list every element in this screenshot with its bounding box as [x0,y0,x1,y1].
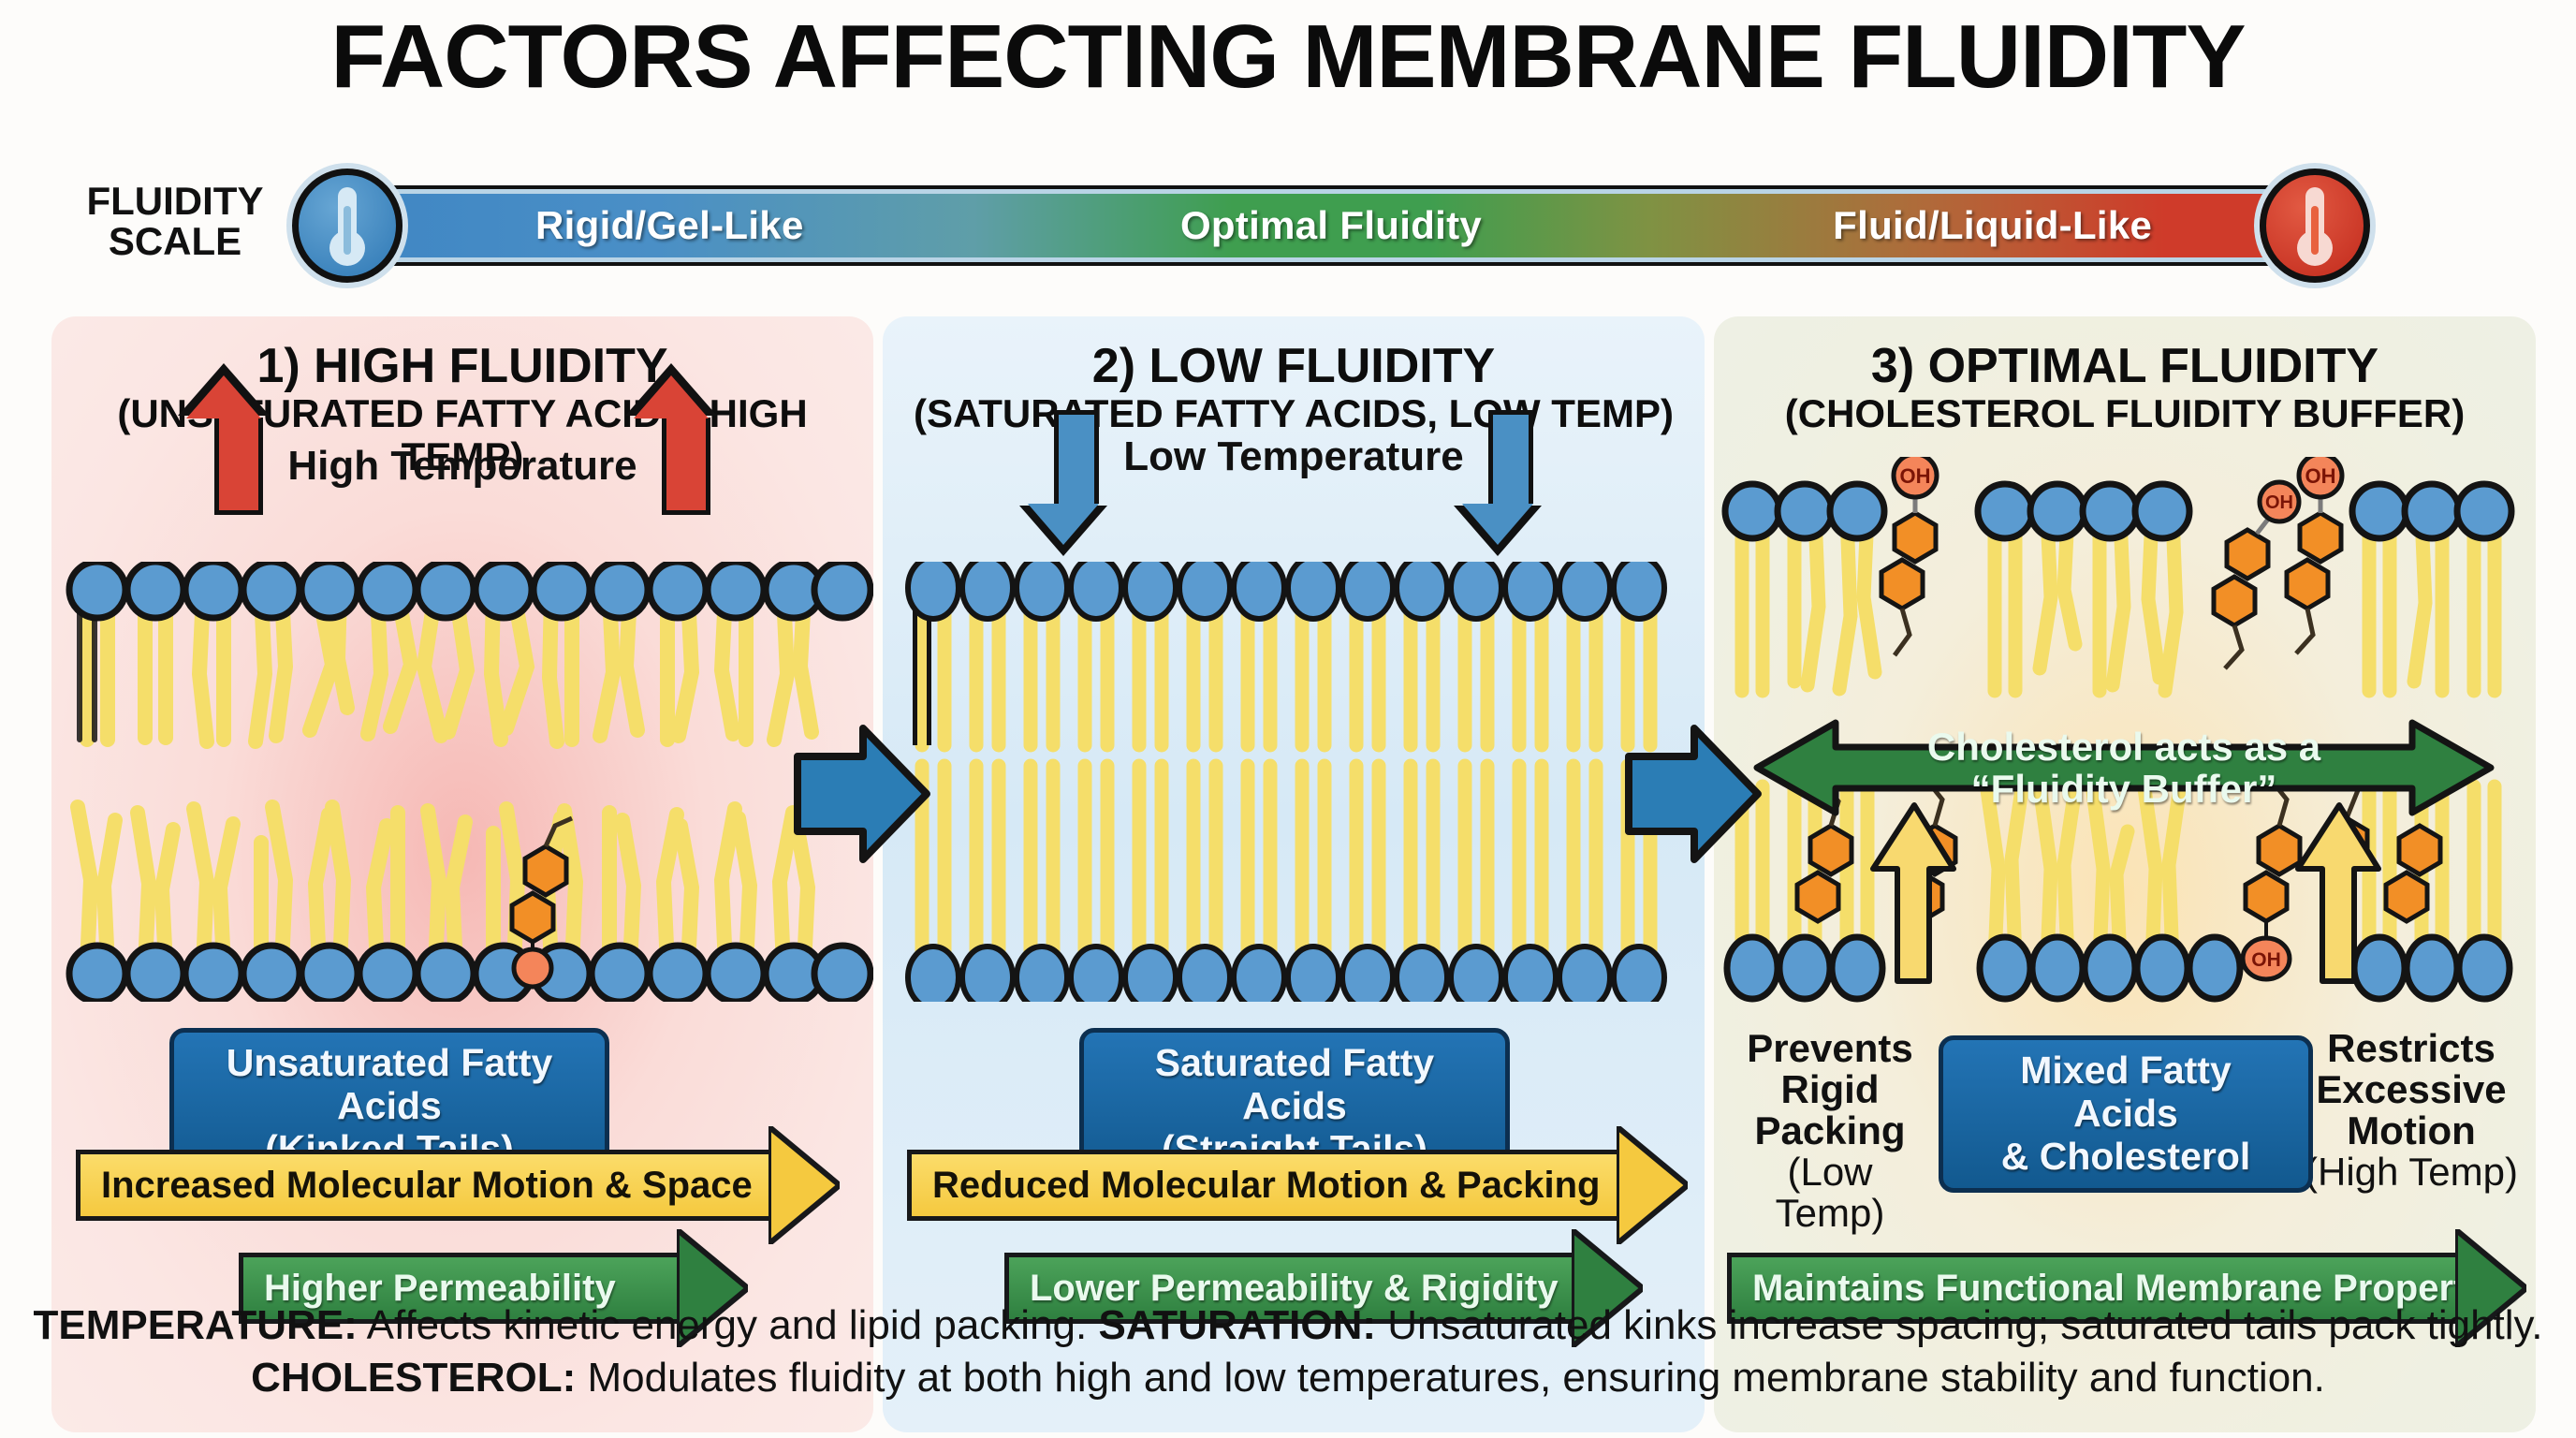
scale-segment-optimal: Optimal Fluidity [1001,203,1662,248]
panel-1-title-line1: 1) HIGH FLUIDITY [51,341,873,392]
panel-3-title-line2: (CHOLESTEROL FLUIDITY BUFFER) [1714,392,2536,435]
thermometer-hot-icon [2260,169,2370,283]
panel-1-temperature-label: High Temperature [287,443,637,490]
caption: TEMPERATURE: Affects kinetic energy and … [0,1299,2576,1405]
panel-3-right-note: Restricts Excessive Motion (High Temp) [2304,1028,2519,1193]
panel-2-temperature-row: Low Temperature [883,410,1705,504]
fluidity-scale-label-line1: FLUIDITY [87,179,264,223]
panel-3-right-note-line3: Motion [2304,1110,2519,1152]
step-arrow-2-to-3 [1623,712,1764,880]
caption-text-saturation: Unsaturated kinks increase spacing; satu… [1376,1302,2542,1348]
panel-2-chip-line1: Saturated Fatty Acids [1106,1042,1483,1128]
panel-2-temperature-label: Low Temperature [1123,433,1463,480]
panel-3-chip-line1: Mixed Fatty Acids [1966,1049,2286,1136]
panel-3-left-note-line1: Prevents [1736,1028,1924,1069]
svg-text:OH: OH [2305,464,2336,488]
panel-3-banner-line2: “Fluidity Buffer” [1971,768,2277,810]
panel-3-title: 3) OPTIMAL FLUIDITY (CHOLESTEROL FLUIDIT… [1714,341,2536,435]
fluidity-scale: FLUIDITY SCALE Rigid/Gel-Like Optimal Fl… [0,165,2576,286]
caption-bold-temperature: TEMPERATURE: [34,1302,358,1348]
panel-3-title-line1: 3) OPTIMAL FLUIDITY [1714,341,2536,392]
panel-2-band-yellow-label: Reduced Molecular Motion & Packing [932,1165,1600,1207]
panel-3-chip: Mixed Fatty Acids & Cholesterol [1939,1035,2313,1193]
panel-3-left-note-line2: Rigid [1736,1069,1924,1110]
temperature-down-arrow-left [1054,410,1099,504]
caption-bold-saturation: SATURATION: [1098,1302,1376,1348]
panel-3-left-note: Prevents Rigid Packing (Low Temp) [1736,1028,1924,1234]
scale-segment-rigid: Rigid/Gel-Like [339,203,1001,248]
panel-3-left-note-line3: Packing [1736,1110,1924,1152]
svg-text:OH: OH [1900,464,1931,488]
scale-segment-fluid: Fluid/Liquid-Like [1661,203,2323,248]
temperature-down-arrow-right [1488,410,1533,504]
step-arrow-1-to-2 [792,712,932,880]
caption-text-temperature: Affects kinetic energy and lipid packing… [358,1302,1099,1348]
panel-1-band-yellow-label: Increased Molecular Motion & Space [101,1165,753,1207]
thermometer-cold-icon [292,169,402,283]
svg-text:OH: OH [2251,949,2281,971]
caption-line-1: TEMPERATURE: Affects kinetic energy and … [0,1299,2576,1352]
panel-1-membrane [51,562,873,1002]
panel-3-right-note-line2: Excessive [2304,1069,2519,1110]
panel-1-temperature-row: High Temperature [51,418,873,515]
panel-2-band-yellow: Reduced Molecular Motion & Packing [907,1150,1688,1221]
panel-3-banner-line1: Cholesterol acts as a [1927,726,2320,768]
panel-low-fluidity: 2) LOW FLUIDITY (SATURATED FATTY ACIDS, … [883,316,1705,1432]
caption-text-cholesterol: Modulates fluidity at both high and low … [576,1355,2325,1401]
fluidity-scale-label-line2: SCALE [109,219,241,263]
panel-3-right-note-line4: (High Temp) [2304,1152,2519,1193]
fluidity-scale-label: FLUIDITY SCALE [58,182,292,262]
caption-line-2: CHOLESTEROL: Modulates fluidity at both … [0,1352,2576,1404]
panel-3-center-banner: Cholesterol acts as a “Fluidity Buffer” [1749,710,2498,826]
panel-1-chip-line1: Unsaturated Fatty Acids [197,1042,582,1128]
panel-optimal-fluidity: 3) OPTIMAL FLUIDITY (CHOLESTEROL FLUIDIT… [1714,316,2536,1432]
panel-3-right-note-line1: Restricts [2304,1028,2519,1069]
panel-2-membrane [883,562,1705,1002]
panel-2-title-line1: 2) LOW FLUIDITY [883,341,1705,392]
panel-high-fluidity: 1) HIGH FLUIDITY (UNSATURATED FATTY ACID… [51,316,873,1432]
panel-1-band-yellow: Increased Molecular Motion & Space [76,1150,840,1221]
svg-text:OH: OH [2265,492,2293,513]
fluidity-gradient-bar: Rigid/Gel-Like Optimal Fluidity Fluid/Li… [339,189,2323,262]
page-title: FACTORS AFFECTING MEMBRANE FLUIDITY [0,6,2576,109]
caption-bold-cholesterol: CHOLESTEROL: [251,1355,576,1401]
panel-3-left-note-line4: (Low Temp) [1736,1152,1924,1234]
temperature-up-arrow-left [214,418,263,515]
temperature-up-arrow-right [662,418,710,515]
panel-3-chip-line2: & Cholesterol [1966,1136,2286,1179]
